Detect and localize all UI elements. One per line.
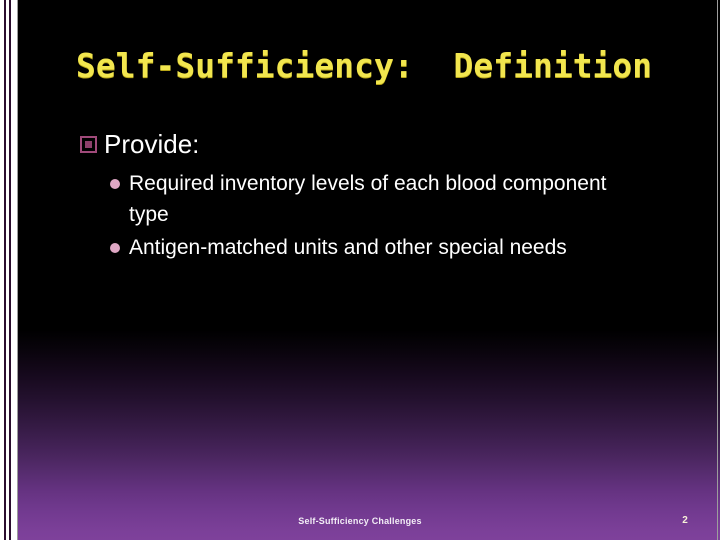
bullet-item-level2-label: Antigen-matched units and other special …	[129, 232, 567, 263]
left-border-rule-2	[9, 0, 11, 540]
slide-footer: Self-Sufficiency Challenges	[0, 516, 720, 526]
bullet-item-level2: Required inventory levels of each blood …	[110, 168, 680, 230]
dot-bullet-icon	[110, 243, 120, 253]
slide-body: Provide: Required inventory levels of ea…	[80, 128, 680, 265]
bullet-item-level1-label: Provide:	[104, 128, 199, 160]
bullet-item-level2-label: Required inventory levels of each blood …	[129, 168, 629, 230]
right-edge-rule	[717, 0, 718, 540]
bullet-item-level2: Antigen-matched units and other special …	[110, 232, 680, 263]
bullet-list-level2: Required inventory levels of each blood …	[110, 168, 680, 263]
slide-canvas: Self-Sufficiency: Definition Provide: Re…	[0, 0, 720, 540]
left-decorative-border	[0, 0, 17, 540]
dot-bullet-icon	[110, 179, 120, 189]
left-edge-rule	[17, 0, 18, 540]
page-number: 2	[660, 515, 710, 526]
slide-title: Self-Sufficiency: Definition	[76, 45, 696, 87]
square-bullet-icon	[80, 136, 97, 153]
bullet-item-level1: Provide:	[80, 128, 680, 160]
left-border-rule-1	[4, 0, 6, 540]
